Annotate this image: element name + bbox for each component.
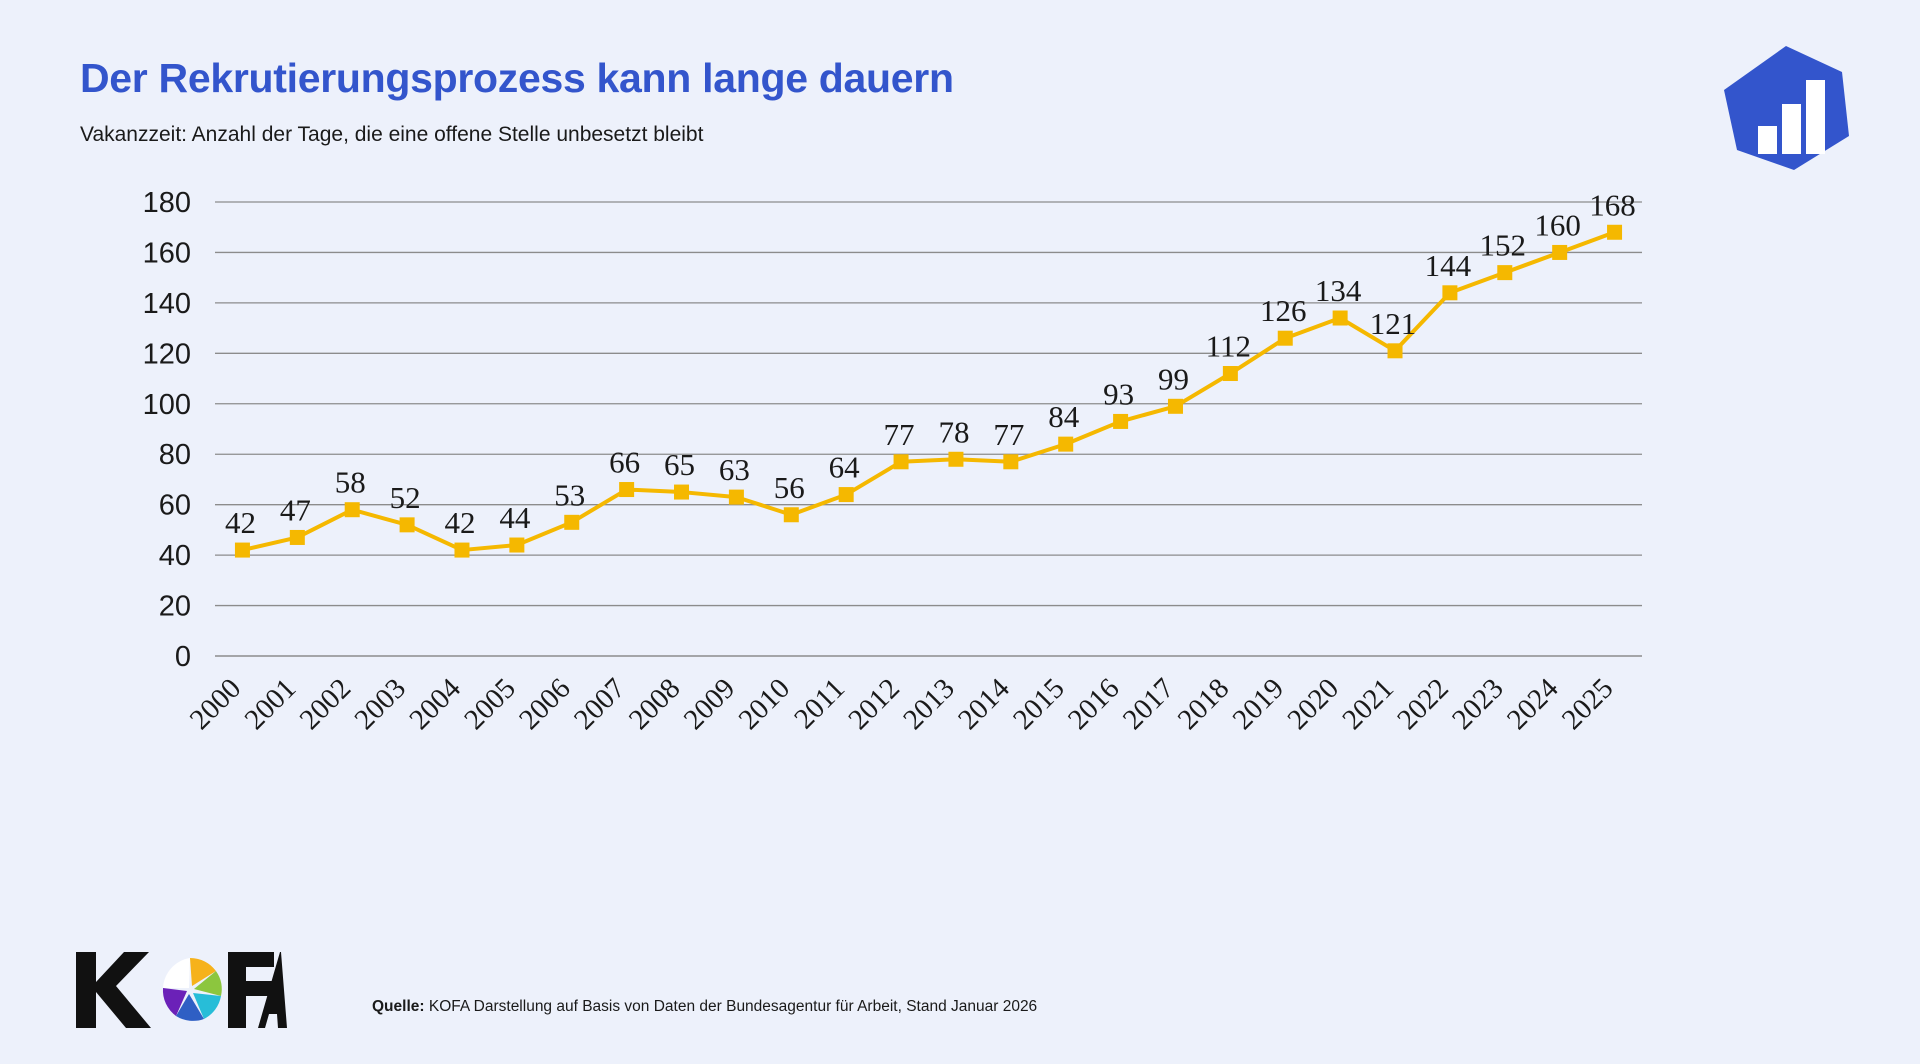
data-point-label: 42 [225,505,256,540]
x-tick-label: 2015 [1007,672,1071,736]
data-point-marker [400,517,415,532]
data-point-label: 53 [554,477,585,512]
series-line-vakanzzeit [242,232,1614,550]
x-tick-label: 2025 [1556,672,1620,736]
x-tick-label: 2007 [568,672,632,736]
data-point-marker [1388,343,1403,358]
x-tick-label: 2024 [1501,672,1565,736]
data-point-marker [1552,245,1567,260]
data-point-label: 77 [884,417,915,452]
y-tick-label: 160 [143,237,191,269]
kofa-logo: KOFA [72,944,287,1036]
data-point-marker [1497,265,1512,280]
x-tick-label: 2019 [1227,672,1291,736]
page-title: Der Rekrutierungsprozess kann lange daue… [80,55,954,102]
y-tick-label: 120 [143,338,191,370]
x-tick-label: 2014 [952,672,1016,736]
x-tick-label: 2023 [1446,672,1510,736]
x-tick-label: 2021 [1336,672,1400,736]
y-tick-label: 180 [143,187,191,219]
data-point-marker [564,515,579,530]
source-label: Quelle: [372,998,425,1015]
data-point-label: 42 [444,505,475,540]
data-point-label: 77 [993,417,1024,452]
line-chart: 020406080100120140160180 424758524244536… [0,170,1920,930]
data-point-marker [345,502,360,517]
data-point-marker [1607,225,1622,240]
data-line [242,232,1614,550]
data-point-marker [1333,311,1348,326]
x-tick-label: 2017 [1117,672,1181,736]
y-axis-tick-labels: 020406080100120140160180 [143,187,191,673]
data-point-label: 84 [1048,399,1080,434]
chart-container: 020406080100120140160180 424758524244536… [0,170,1920,930]
data-point-label: 134 [1315,273,1362,308]
y-tick-label: 0 [175,641,191,673]
data-point-label: 66 [609,445,640,480]
data-point-marker [509,538,524,553]
y-tick-label: 60 [159,490,191,522]
x-tick-label: 2002 [294,672,358,736]
x-tick-label: 2005 [458,672,522,736]
data-point-marker [290,530,305,545]
data-point-label: 78 [938,414,969,449]
x-tick-label: 2004 [403,672,467,736]
y-tick-label: 140 [143,288,191,320]
source-line: Quelle: KOFA Darstellung auf Basis von D… [372,998,1037,1016]
data-point-labels: 4247585242445366656356647778778493991121… [225,187,1636,540]
data-point-label: 65 [664,447,695,482]
x-tick-label: 2012 [842,672,906,736]
data-point-label: 152 [1480,228,1527,263]
data-point-marker [1278,331,1293,346]
data-point-marker [1058,437,1073,452]
chart-subtitle: Vakanzzeit: Anzahl der Tage, die eine of… [80,123,954,147]
x-tick-label: 2022 [1391,672,1455,736]
chart-header: Der Rekrutierungsprozess kann lange daue… [80,55,954,147]
y-tick-label: 100 [143,389,191,421]
x-tick-label: 2001 [239,672,303,736]
x-tick-label: 2009 [678,672,742,736]
data-point-marker [1442,285,1457,300]
series-markers-vakanzzeit [235,225,1622,558]
data-point-marker [1113,414,1128,429]
data-point-label: 160 [1534,207,1581,242]
source-text: KOFA Darstellung auf Basis von Daten der… [429,998,1037,1015]
x-tick-label: 2000 [184,672,248,736]
x-tick-label: 2010 [733,672,797,736]
data-point-label: 93 [1103,376,1134,411]
data-point-label: 47 [280,492,311,527]
data-point-label: 58 [335,465,366,500]
x-tick-label: 2006 [513,672,577,736]
data-point-marker [729,490,744,505]
data-point-marker [948,452,963,467]
data-point-label: 144 [1425,248,1472,283]
data-point-label: 99 [1158,361,1189,396]
data-point-label: 52 [390,480,421,515]
data-point-marker [1223,366,1238,381]
data-point-marker [1168,399,1183,414]
bar-chart-badge-icon [1720,42,1852,174]
data-point-marker [894,454,909,469]
data-point-label: 56 [774,470,805,505]
data-point-marker [235,543,250,558]
data-point-marker [619,482,634,497]
x-tick-label: 2020 [1281,672,1345,736]
y-tick-label: 40 [159,540,191,572]
x-tick-label: 2013 [897,672,961,736]
data-point-label: 44 [499,500,531,535]
x-tick-label: 2003 [348,672,412,736]
data-point-label: 112 [1206,329,1251,364]
data-point-label: 168 [1589,187,1636,222]
x-tick-label: 2011 [788,672,851,735]
data-point-label: 64 [829,450,861,485]
x-tick-label: 2008 [623,672,687,736]
data-point-marker [674,485,689,500]
y-tick-label: 80 [159,439,191,471]
data-point-marker [784,507,799,522]
x-tick-label: 2016 [1062,672,1126,736]
x-tick-label: 2018 [1172,672,1236,736]
data-point-marker [839,487,854,502]
data-point-label: 121 [1370,306,1417,341]
data-point-marker [1003,454,1018,469]
y-tick-label: 20 [159,591,191,623]
data-point-marker [454,543,469,558]
data-point-label: 126 [1260,293,1307,328]
data-point-label: 63 [719,452,750,487]
x-axis-tick-labels: 2000200120022003200420052006200720082009… [184,672,1620,736]
